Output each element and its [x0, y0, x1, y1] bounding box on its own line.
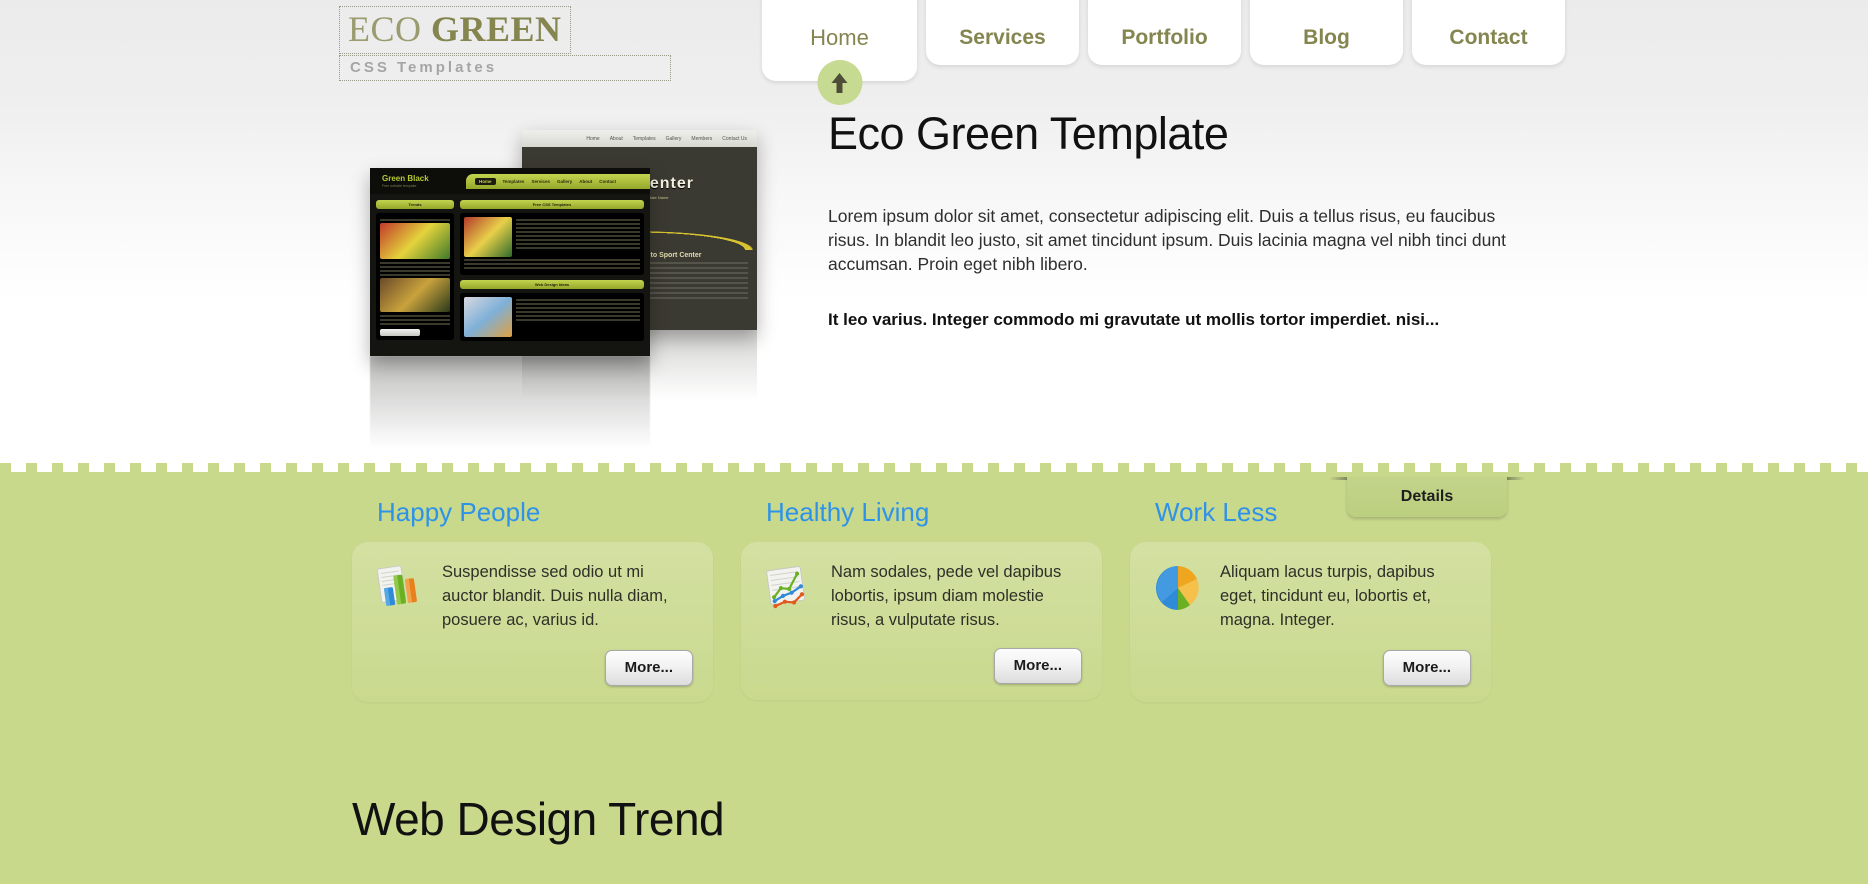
web-design-trend-title: Web Design Trend: [352, 792, 724, 846]
hero-section: Home About Templates Gallery Members Con…: [0, 100, 1868, 465]
pie-chart-icon: [1152, 562, 1204, 614]
feature-card-text: Suspendisse sed odio ut mi auctor blandi…: [442, 560, 693, 632]
screenshot-green-black-brandsub: Free website template: [382, 184, 416, 188]
logo-title-eco: ECO: [348, 9, 422, 49]
sb-nav-1: About: [610, 136, 623, 142]
screenshot-green-black-panel2-heading: Web Design Ideas: [460, 280, 644, 289]
hero-text-block: Eco Green Template Lorem ipsum dolor sit…: [828, 108, 1683, 330]
screenshot-green-black: Green Black Free website template Home T…: [370, 168, 650, 356]
sf-nav-5: Contact: [599, 179, 616, 184]
feature-card-text: Aliquam lacus turpis, dapibus eget, tinc…: [1220, 560, 1471, 632]
logo-subtitle: CSS Templates: [339, 55, 671, 81]
sb-nav-3: Gallery: [666, 136, 682, 142]
nav-item-home-label: Home: [810, 25, 869, 51]
sf-nav-2: Services: [531, 179, 550, 184]
nav-item-contact[interactable]: Contact: [1412, 0, 1565, 65]
nav-item-services-label: Services: [959, 26, 1045, 50]
nav-item-portfolio-label: Portfolio: [1121, 26, 1207, 50]
hero-paragraph: Lorem ipsum dolor sit amet, consectetur …: [828, 204, 1513, 276]
hero-bold-paragraph: It leo varius. Integer commodo mi gravut…: [828, 310, 1683, 330]
feature-card-text: Nam sodales, pede vel dapibus lobortis, …: [831, 560, 1082, 632]
sf-nav-0: Home: [475, 178, 496, 185]
screenshot-green-black-reflection: [370, 356, 650, 448]
sb-nav-2: Templates: [633, 136, 656, 142]
feature-card-title: Happy People: [352, 497, 713, 528]
feature-card-body: Suspendisse sed odio ut mi auctor blandi…: [352, 542, 713, 702]
feature-cards: Happy People: [352, 497, 1492, 702]
details-ribbon: Details: [1347, 472, 1507, 514]
screenshot-sport-center-nav: Home About Templates Gallery Members Con…: [522, 130, 757, 147]
screenshot-green-black-brand: Green Black: [382, 174, 429, 183]
more-button[interactable]: More...: [994, 648, 1082, 684]
hero-screenshot-group: Home About Templates Gallery Members Con…: [370, 120, 765, 420]
more-button[interactable]: More...: [1383, 650, 1471, 686]
feature-card-happy-people: Happy People: [352, 497, 713, 702]
feature-card-title: Healthy Living: [741, 497, 1102, 528]
sb-nav-0: Home: [586, 136, 599, 142]
features-section: Happy People: [0, 472, 1868, 884]
main-navigation: Home Services Portfolio Blog Contact: [762, 0, 1565, 81]
sb-nav-5: Contact Us: [722, 136, 747, 142]
sf-nav-3: Gallery: [557, 179, 572, 184]
screenshot-green-black-sidebar-button: [380, 329, 420, 336]
sf-nav-1: Templates: [503, 179, 525, 184]
sb-nav-4: Members: [691, 136, 712, 142]
feature-card-healthy-living: Healthy Living: [741, 497, 1102, 702]
feature-card-body: Nam sodales, pede vel dapibus lobortis, …: [741, 542, 1102, 700]
bar-chart-icon: [374, 562, 426, 614]
nav-item-home[interactable]: Home: [762, 0, 917, 81]
sf-nav-4: About: [579, 179, 592, 184]
screenshot-green-black-sidebar-heading: Trends: [376, 200, 454, 209]
screenshot-green-black-nav: Home Templates Services Gallery About Co…: [466, 174, 650, 189]
up-arrow-icon: [817, 60, 862, 105]
feature-card-body: Aliquam lacus turpis, dapibus eget, tinc…: [1130, 542, 1491, 702]
nav-item-blog[interactable]: Blog: [1250, 0, 1403, 65]
nav-item-blog-label: Blog: [1303, 26, 1350, 50]
hero-title: Eco Green Template: [828, 108, 1683, 160]
line-chart-icon: [763, 562, 815, 614]
screenshot-green-black-panel1-heading: Free CSS Templates: [460, 200, 644, 209]
logo-title-green: GREEN: [431, 9, 562, 49]
screenshot-green-black-header: Green Black Free website template Home T…: [370, 168, 650, 194]
nav-item-contact-label: Contact: [1449, 26, 1527, 50]
nav-item-portfolio[interactable]: Portfolio: [1088, 0, 1241, 65]
nav-item-services[interactable]: Services: [926, 0, 1079, 65]
logo-title: ECO GREEN: [339, 6, 571, 54]
more-button[interactable]: More...: [605, 650, 693, 686]
site-header: ECO GREEN CSS Templates Home Services Po…: [0, 0, 1868, 100]
feature-card-work-less: Work Less Aliquam lacus turpis, dapibus …: [1130, 497, 1491, 702]
site-logo[interactable]: ECO GREEN CSS Templates: [339, 6, 671, 81]
details-button[interactable]: Details: [1347, 477, 1507, 517]
